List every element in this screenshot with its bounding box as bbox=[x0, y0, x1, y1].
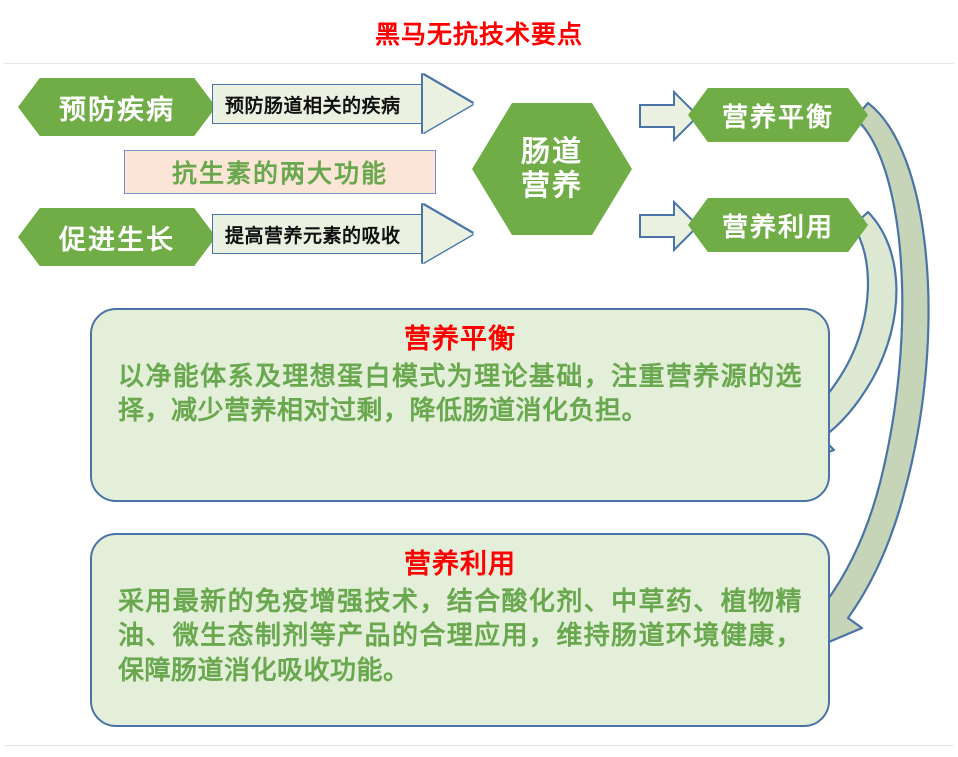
bottom-divider bbox=[4, 745, 954, 746]
panel-nutrition-utilization-title: 营养利用 bbox=[118, 549, 802, 580]
panel-nutrition-balance-body: 以净能体系及理想蛋白模式为理论基础，注重营养源的选择，减少营养相对过剩，降低肠道… bbox=[118, 359, 802, 428]
core-hexagon-line-2: 营养 bbox=[521, 169, 583, 203]
panel-nutrition-utilization-body: 采用最新的免疫增强技术，结合酸化剂、中草药、植物精油、微生态制剂等产品的合理应用… bbox=[118, 584, 802, 687]
function-chevron-promote-growth[interactable]: 促进生长 bbox=[18, 208, 216, 266]
panel-nutrition-balance: 营养平衡 以净能体系及理想蛋白模式为理论基础，注重营养源的选择，减少营养相对过剩… bbox=[90, 308, 830, 502]
core-hexagon-gut-nutrition[interactable]: 肠道 营养 bbox=[472, 103, 632, 235]
core-hexagon-line-1: 肠道 bbox=[521, 135, 583, 169]
outcome-chevron-nutrition-balance[interactable]: 营养平衡 bbox=[688, 88, 868, 142]
detail-arrow-promote-growth[interactable]: 提高营养元素的吸收 bbox=[212, 214, 424, 254]
page-title: 黑马无抗技术要点 bbox=[0, 22, 958, 50]
panel-nutrition-utilization: 营养利用 采用最新的免疫增强技术，结合酸化剂、中草药、植物精油、微生态制剂等产品… bbox=[90, 533, 830, 727]
detail-arrow-prevent-disease[interactable]: 预防肠道相关的疾病 bbox=[212, 84, 424, 124]
arrowhead-prevent-disease-icon bbox=[423, 75, 473, 133]
arrowhead-promote-growth-icon bbox=[423, 205, 473, 263]
antibiotic-two-functions-note: 抗生素的两大功能 bbox=[124, 150, 436, 194]
function-chevron-prevent-disease[interactable]: 预防疾病 bbox=[18, 78, 216, 136]
outcome-chevron-nutrition-utilization[interactable]: 营养利用 bbox=[688, 198, 868, 252]
panel-nutrition-balance-title: 营养平衡 bbox=[118, 324, 802, 355]
top-divider bbox=[4, 63, 954, 64]
slide-canvas: 黑马无抗技术要点 预防疾病 预防肠道相关的疾病 抗生素的两大功能 促进生长 提高… bbox=[0, 0, 958, 757]
